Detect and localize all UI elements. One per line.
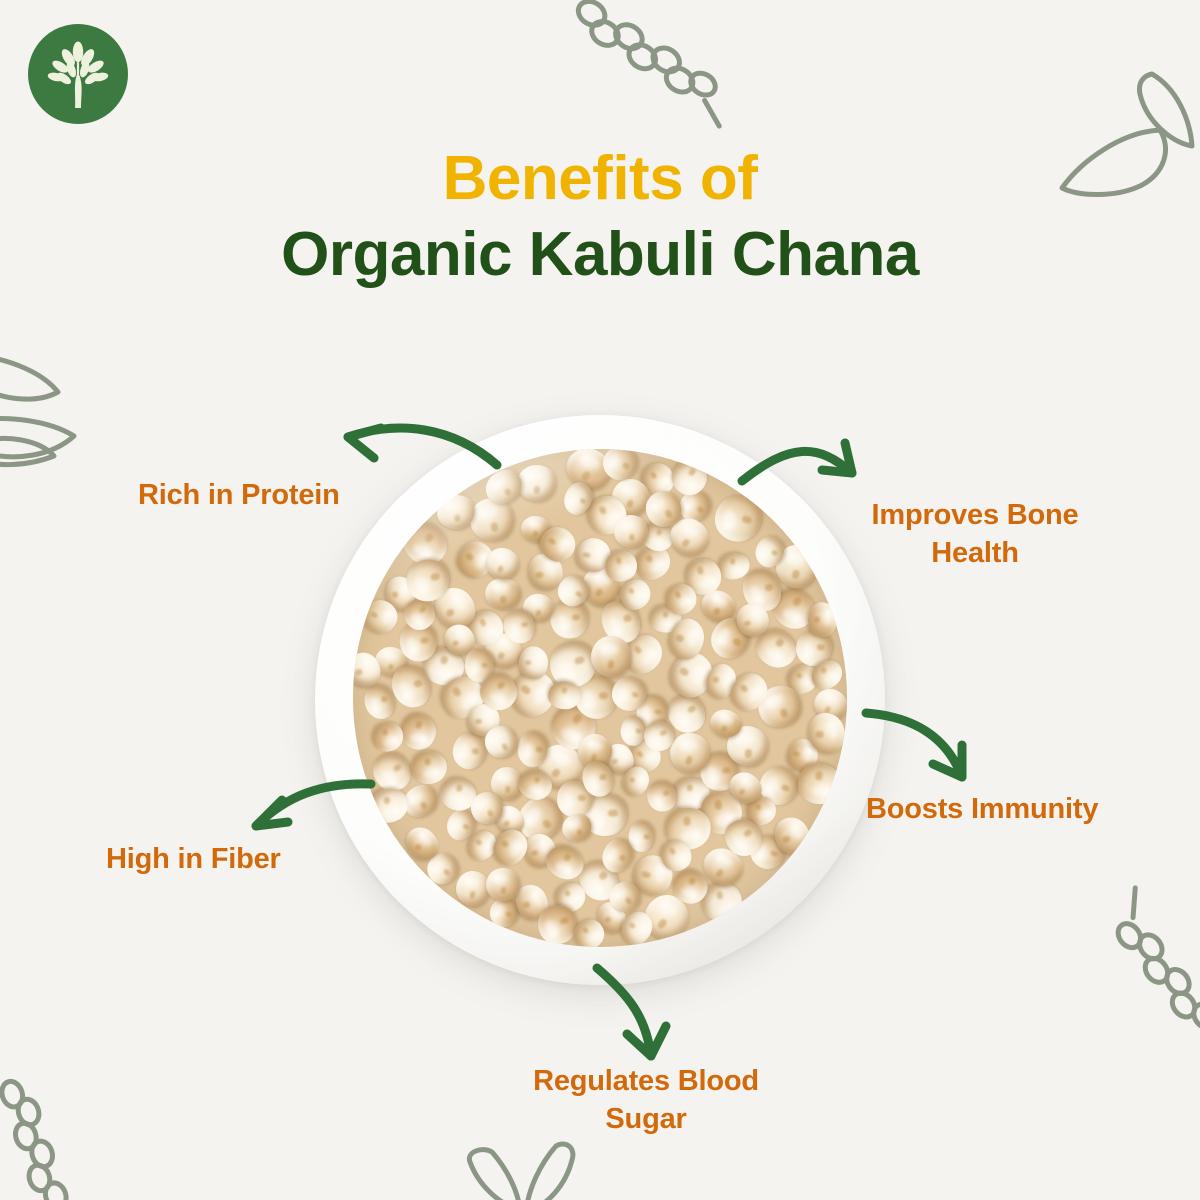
page-title: Benefits of Organic Kabuli Chana (0, 148, 1200, 286)
wheat-spike-bottom-left (0, 1076, 76, 1200)
leaf-pair-bottom-center (469, 1144, 573, 1200)
chickpea (485, 578, 521, 609)
chickpea (796, 762, 842, 807)
benefit-label-rich-in-protein: Rich in Protein (138, 476, 340, 514)
wheat-spike-top-center (565, 0, 740, 126)
chickpea (365, 784, 412, 828)
chickpea (591, 636, 631, 677)
benefit-label-improves-bone-health: Improves Bone Health (846, 496, 1104, 573)
title-line-2: Organic Kabuli Chana (0, 224, 1200, 286)
brand-logo[interactable] (28, 24, 128, 124)
wheat-spike-bottom-right (1101, 888, 1200, 1039)
bowl-interior (353, 449, 847, 947)
benefit-label-boosts-immunity: Boosts Immunity (866, 790, 1098, 828)
chickpea-bowl-image (315, 415, 885, 985)
title-line-1: Benefits of (0, 148, 1200, 210)
chickpea (713, 494, 763, 544)
chickpea-fill (353, 449, 847, 947)
benefit-label-high-in-fiber: High in Fiber (106, 840, 281, 878)
infographic-canvas: Benefits of Organic Kabuli Chana (0, 0, 1200, 1200)
leaf-pair-left (0, 356, 74, 465)
chickpea (398, 713, 438, 752)
benefit-label-regulates-blood-sugar: Regulates Blood Sugar (506, 1062, 786, 1139)
tree-logo-icon (41, 37, 115, 111)
